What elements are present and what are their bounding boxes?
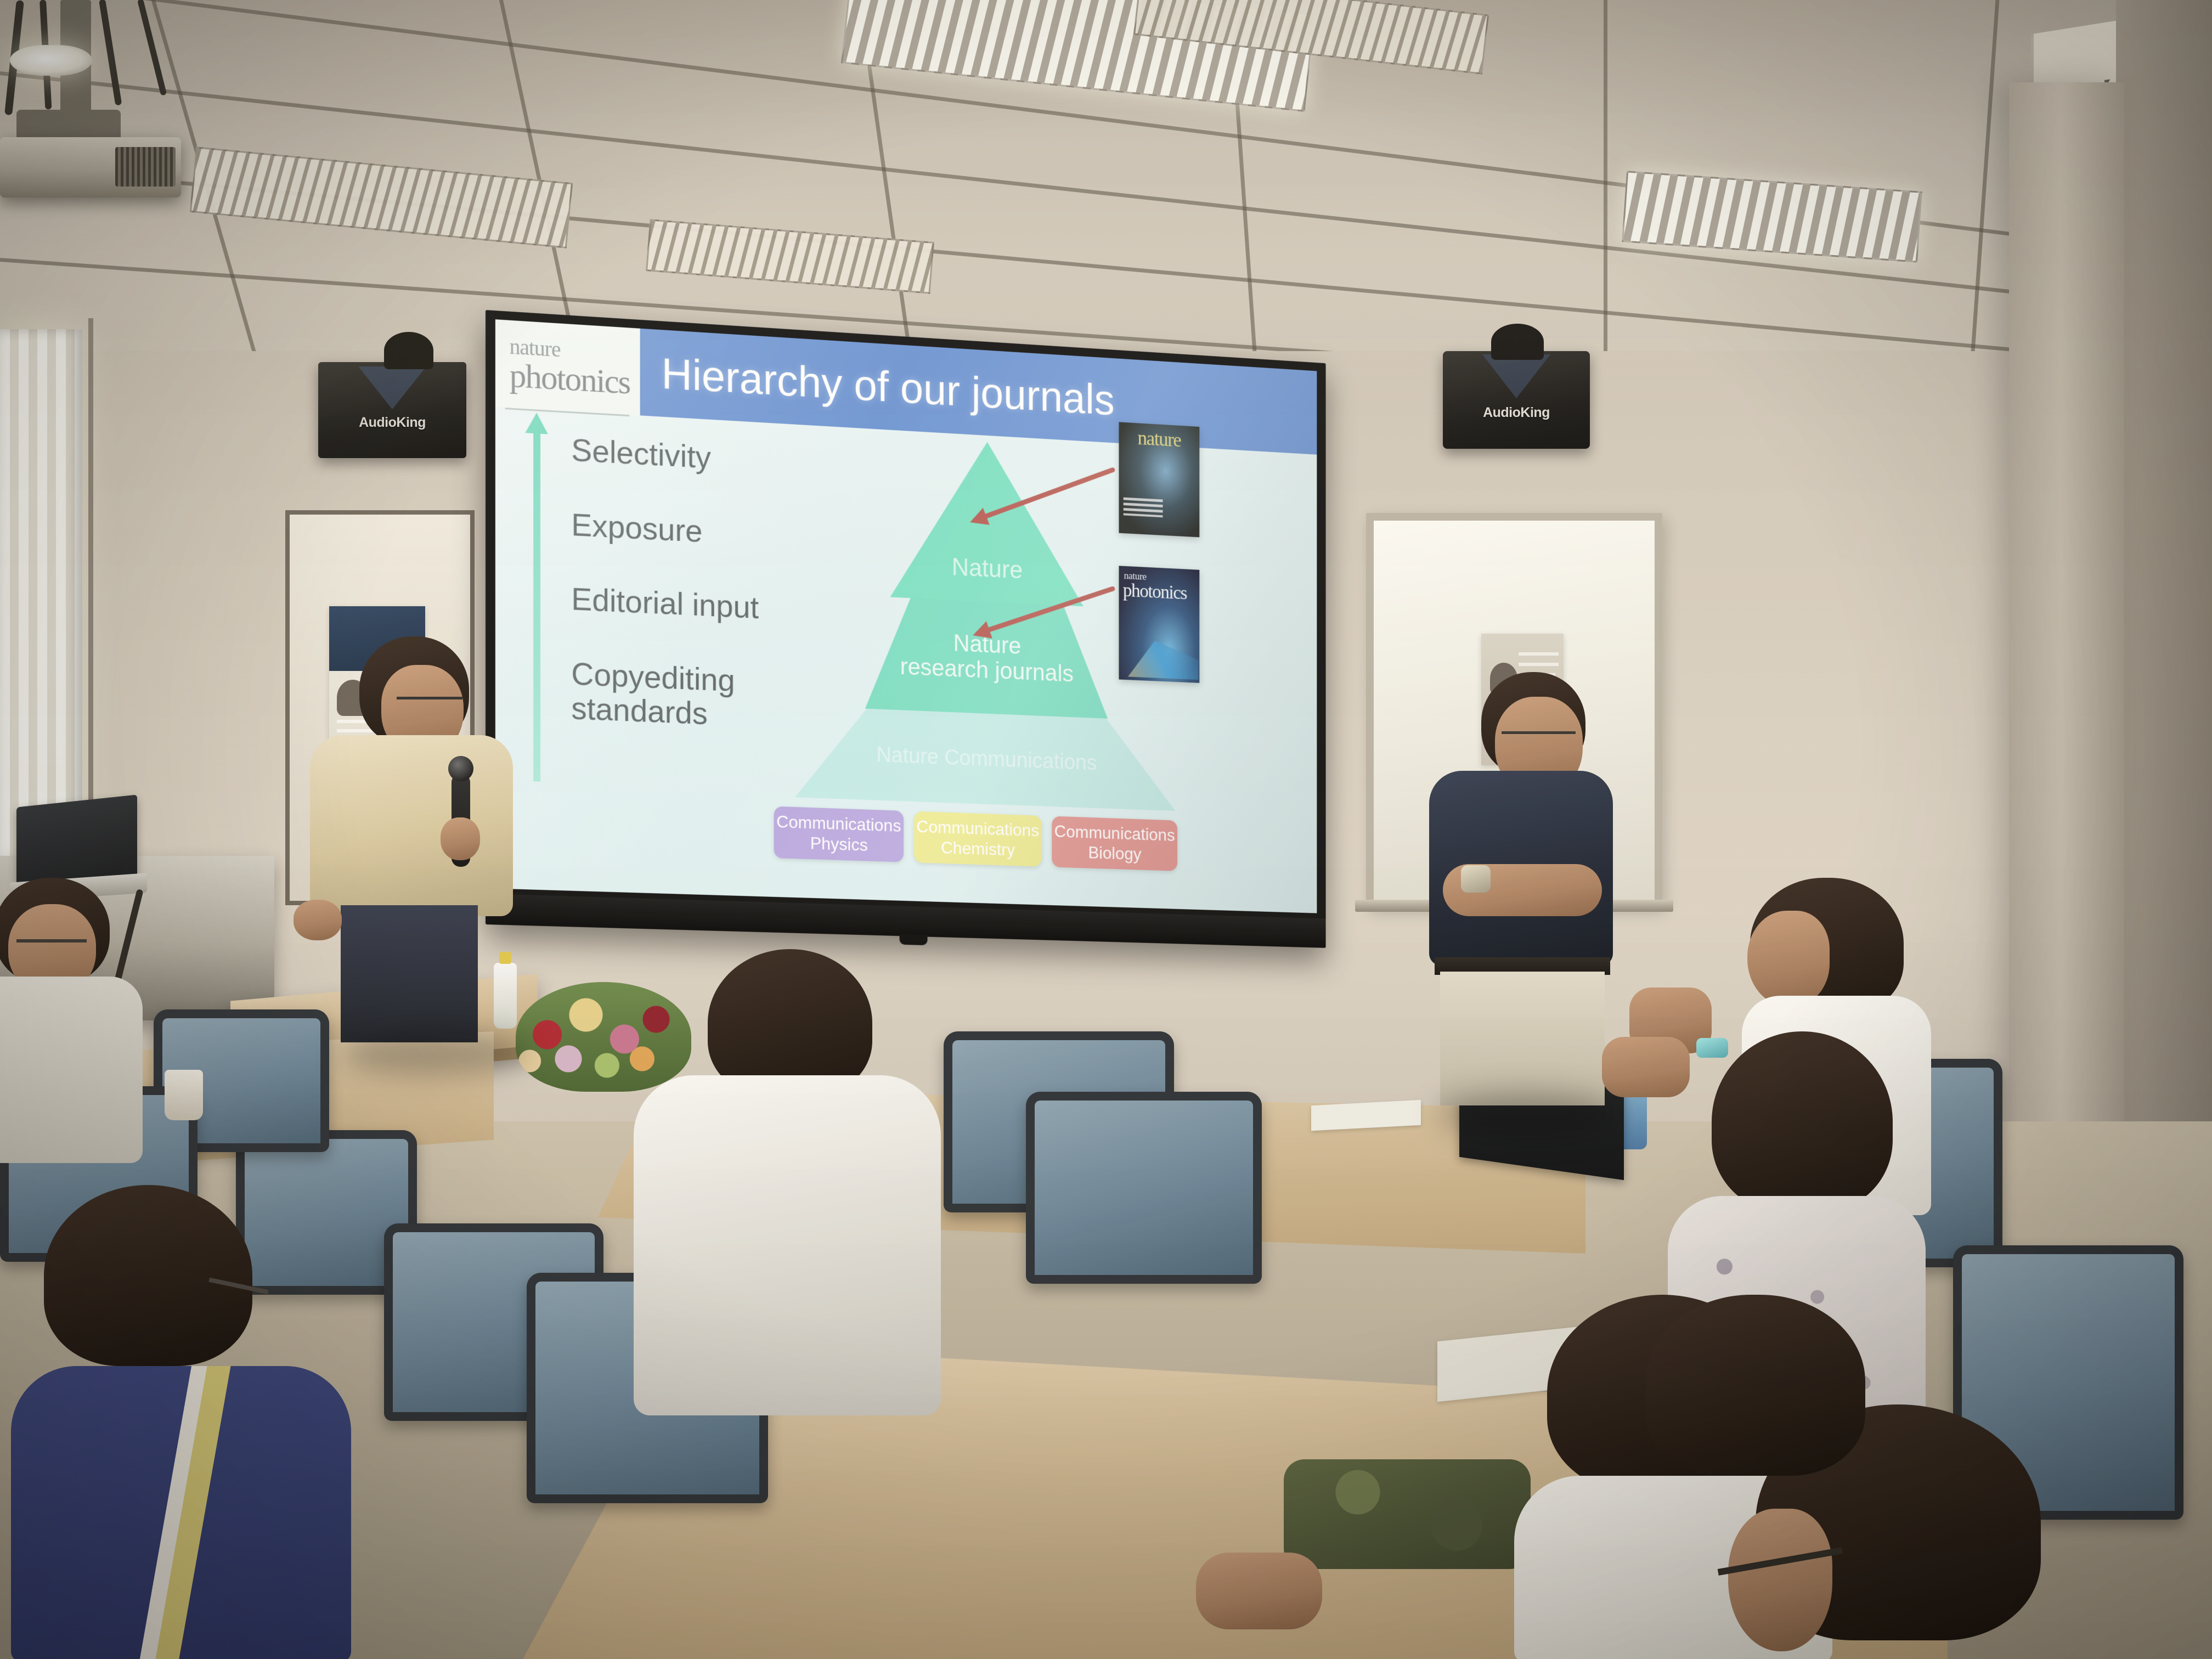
logo-photonics-text: photonics xyxy=(510,359,640,400)
presenter-left-hand xyxy=(441,817,480,860)
audience-striped-shirt xyxy=(11,1366,351,1659)
communications-biology-box: Communications Biology xyxy=(1052,816,1177,871)
presentation-slide: nature photonics Hierarchy of our journa… xyxy=(495,319,1317,913)
projection-screen: nature photonics Hierarchy of our journa… xyxy=(486,310,1326,948)
ceiling-projector-assembly xyxy=(0,0,230,230)
comm-physics-line2: Physics xyxy=(810,833,868,855)
nature-photonics-journal-cover: nature photonics xyxy=(1119,566,1199,683)
audience-member-white-tshirt xyxy=(634,949,946,1421)
comm-chemistry-line1: Communications xyxy=(917,817,1040,841)
presenter-left xyxy=(304,636,518,1042)
presenter-right-trousers xyxy=(1440,972,1605,1105)
ceiling-light-fixture xyxy=(1622,171,1922,262)
communications-chemistry-box: Communications Chemistry xyxy=(914,811,1042,867)
speaker-mount-bracket-right xyxy=(1491,324,1544,360)
presenter-right-wristwatch xyxy=(1461,865,1491,893)
foreground-hand xyxy=(1196,1553,1322,1629)
presenter-left-glasses-icon xyxy=(397,697,462,699)
audience-head xyxy=(1646,1295,1865,1476)
comm-physics-line1: Communications xyxy=(776,812,901,837)
audience-glasses-icon xyxy=(16,939,87,943)
presenter-left-hand xyxy=(294,900,342,940)
nature-cover-masthead: nature xyxy=(1119,425,1199,453)
axis-label-copyediting-standards: Copyediting standards xyxy=(571,657,731,732)
nature-photonics-logo: nature photonics xyxy=(495,319,640,415)
pyramid-tier-bottom: Nature Communications xyxy=(795,706,1175,811)
photonics-cover-masthead-main: photonics xyxy=(1123,579,1187,604)
wall-speaker-right: AudioKing xyxy=(1443,351,1590,449)
wall-speaker-left: AudioKing xyxy=(318,362,466,458)
audience-face xyxy=(1728,1509,1832,1651)
audience-head xyxy=(44,1185,252,1366)
pyramid-tier-mid: Nature research journals xyxy=(865,596,1108,719)
projector-lens-icon xyxy=(10,45,92,76)
audience-shirt xyxy=(0,977,143,1163)
communications-journals-row: Communications Physics Communications Ch… xyxy=(774,806,1177,871)
suspended-ceiling xyxy=(0,0,2212,351)
comm-biology-line2: Biology xyxy=(1088,843,1142,865)
chair[interactable] xyxy=(1026,1092,1262,1284)
pyramid-tier-top-label: Nature xyxy=(952,552,1023,584)
seminar-room-photo: AudioKing AudioKing nature photonics Hie… xyxy=(0,0,2212,1659)
audience-white-shirt xyxy=(634,1075,941,1415)
wall-column xyxy=(2009,82,2124,1180)
upward-arrow-icon xyxy=(533,431,540,782)
pyramid-tier-bottom-label: Nature Communications xyxy=(876,743,1097,775)
comm-biology-line1: Communications xyxy=(1054,822,1175,846)
audience-face xyxy=(1747,911,1830,1007)
audience-member-mid-right xyxy=(1635,1295,1865,1476)
presenter-right-glasses-icon xyxy=(1502,731,1576,734)
slide-title: Hierarchy of our journals xyxy=(662,348,1115,425)
presenter-left-trousers xyxy=(341,905,478,1042)
audience-head xyxy=(1712,1031,1893,1212)
coffee-cup[interactable] xyxy=(165,1070,203,1120)
speaker-mount-bracket-left xyxy=(384,332,433,369)
audience-member-left-glasses xyxy=(0,878,159,1163)
presenter-right xyxy=(1418,672,1621,1105)
ceiling-air-grille xyxy=(190,146,573,249)
pyramid-tier-mid-label-line2: research journals xyxy=(900,654,1074,687)
speaker-brand-label: AudioKing xyxy=(359,415,426,431)
speaker-brand-label: AudioKing xyxy=(1483,405,1550,421)
comm-chemistry-line2: Chemistry xyxy=(941,838,1015,860)
presenter-left-shirt xyxy=(310,735,513,916)
communications-physics-box: Communications Physics xyxy=(774,806,904,862)
projector-icon xyxy=(0,137,181,198)
nature-journal-cover: nature xyxy=(1119,422,1199,537)
audience-member-striped-polo xyxy=(11,1185,362,1659)
